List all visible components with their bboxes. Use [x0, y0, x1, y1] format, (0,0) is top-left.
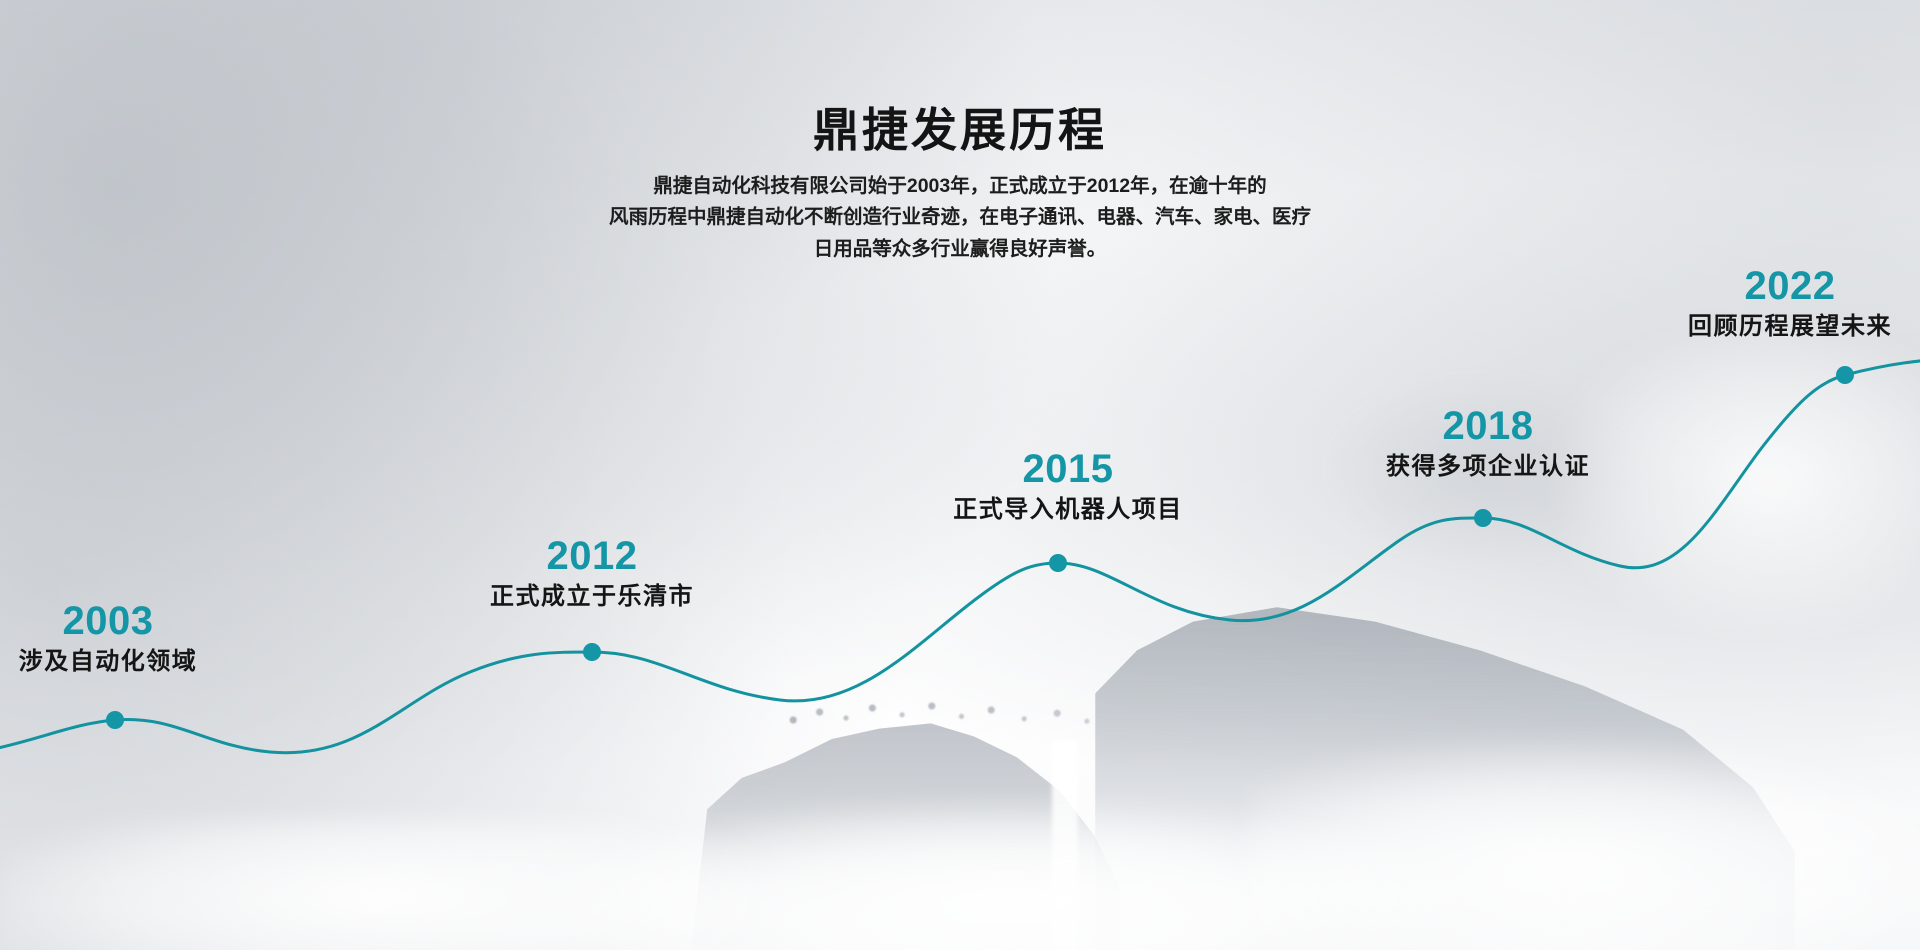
milestone-year-label: 2022 — [1688, 265, 1892, 307]
milestone-2022[interactable]: 2022回顾历程展望未来 — [1688, 265, 1892, 342]
timeline-dot-2022[interactable] — [1836, 366, 1854, 384]
timeline-dot-2003[interactable] — [106, 711, 124, 729]
subtitle-line-2: 风雨历程中鼎捷自动化不断创造行业奇迹，在电子通讯、电器、汽车、家电、医疗 — [530, 202, 1390, 234]
milestone-2018[interactable]: 2018获得多项企业认证 — [1386, 405, 1590, 482]
milestone-description: 回顾历程展望未来 — [1688, 313, 1892, 342]
timeline-dot-2018[interactable] — [1474, 509, 1492, 527]
timeline-dot-2012[interactable] — [583, 643, 601, 661]
milestone-2015[interactable]: 2015正式导入机器人项目 — [953, 448, 1183, 525]
subtitle-line-1: 鼎捷自动化科技有限公司始于2003年，正式成立于2012年，在逾十年的 — [530, 171, 1390, 203]
milestone-2012[interactable]: 2012正式成立于乐清市 — [490, 535, 694, 612]
page-title: 鼎捷发展历程 — [0, 104, 1920, 157]
milestone-year-label: 2003 — [19, 600, 198, 642]
timeline-curve-path — [0, 360, 1920, 753]
page-subtitle: 鼎捷自动化科技有限公司始于2003年，正式成立于2012年，在逾十年的 风雨历程… — [530, 171, 1390, 266]
milestone-description: 获得多项企业认证 — [1386, 453, 1590, 482]
header: 鼎捷发展历程 鼎捷自动化科技有限公司始于2003年，正式成立于2012年，在逾十… — [0, 104, 1920, 266]
milestone-description: 正式成立于乐清市 — [490, 583, 694, 612]
milestone-year-label: 2018 — [1386, 405, 1590, 447]
timeline-infographic: 鼎捷发展历程 鼎捷自动化科技有限公司始于2003年，正式成立于2012年，在逾十… — [0, 0, 1920, 950]
milestone-2003[interactable]: 2003涉及自动化领域 — [19, 600, 198, 677]
milestone-year-label: 2012 — [490, 535, 694, 577]
milestone-year-label: 2015 — [953, 448, 1183, 490]
timeline-dot-group — [106, 366, 1854, 729]
timeline-dot-2015[interactable] — [1049, 554, 1067, 572]
subtitle-line-3: 日用品等众多行业赢得良好声誉。 — [530, 234, 1390, 266]
milestone-description: 正式导入机器人项目 — [953, 496, 1183, 525]
milestone-description: 涉及自动化领域 — [19, 648, 198, 677]
